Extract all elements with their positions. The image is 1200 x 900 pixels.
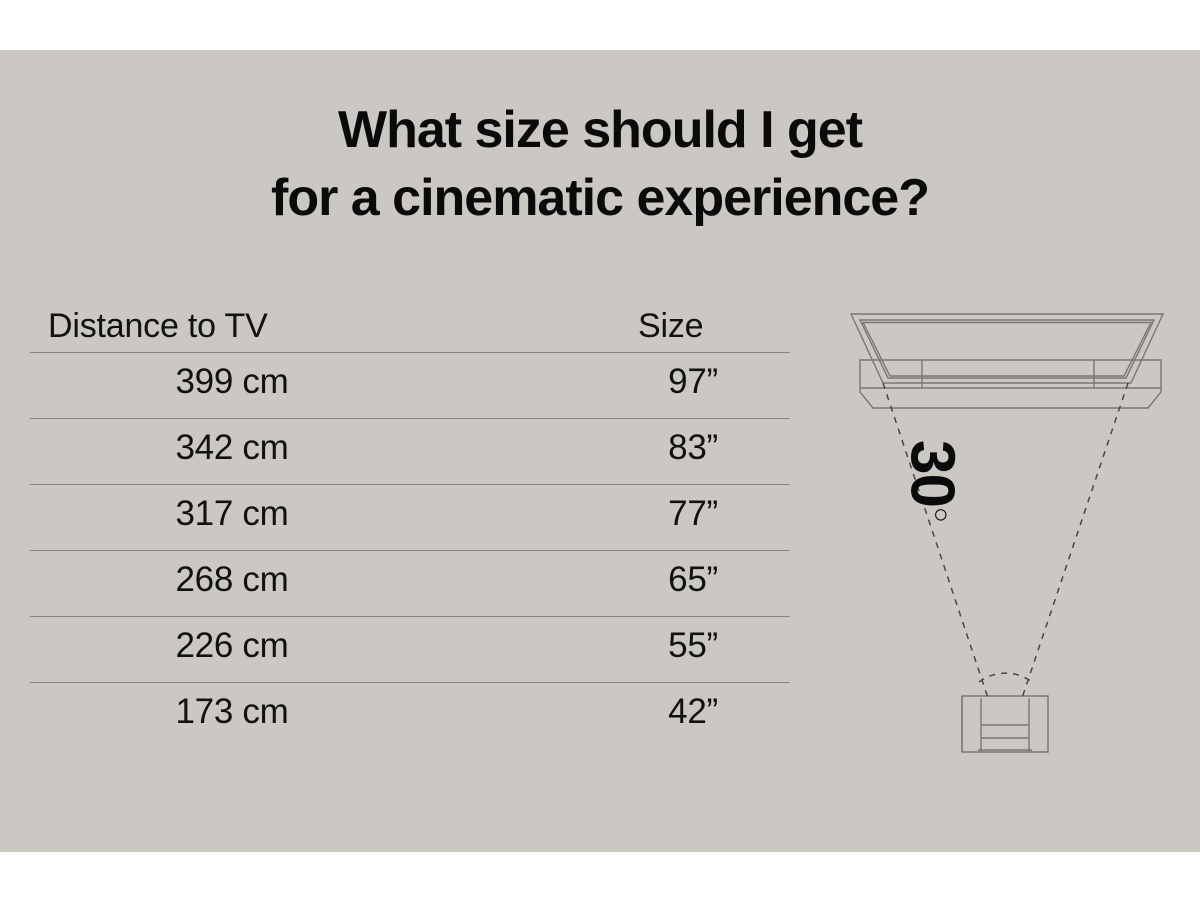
cell-distance: 317 cm (102, 494, 362, 534)
viewing-angle-sightlines-icon (883, 383, 1128, 698)
table-row: 399 cm 97” (30, 353, 790, 418)
viewing-angle-diagram (818, 282, 1190, 782)
cell-size: 42” (608, 692, 778, 732)
viewing-angle-label: 30○ (900, 440, 973, 522)
sofa-top-view-icon (962, 696, 1048, 752)
page-title: What size should I get for a cinematic e… (0, 96, 1200, 232)
cell-distance: 399 cm (102, 362, 362, 402)
table-row: 226 cm 55” (30, 617, 790, 682)
cell-size: 83” (608, 428, 778, 468)
cell-distance: 173 cm (102, 692, 362, 732)
column-header-size: Size (638, 307, 703, 346)
table-row: 342 cm 83” (30, 419, 790, 484)
table-row: 268 cm 65” (30, 551, 790, 616)
cell-size: 55” (608, 626, 778, 666)
cell-distance: 226 cm (102, 626, 362, 666)
cell-size: 97” (608, 362, 778, 402)
page-title-line-2: for a cinematic experience? (0, 164, 1200, 232)
viewing-angle-value: 30 (897, 440, 966, 507)
page-title-line-1: What size should I get (0, 96, 1200, 164)
tv-console-icon (860, 360, 1161, 408)
cell-size: 65” (608, 560, 778, 600)
column-header-distance: Distance to TV (48, 307, 268, 346)
cell-distance: 268 cm (102, 560, 362, 600)
table-row: 317 cm 77” (30, 485, 790, 550)
table-row: 173 cm 42” (30, 683, 790, 748)
table-header-row: Distance to TV Size (30, 282, 790, 352)
degree-icon: ○ (927, 507, 957, 522)
cell-size: 77” (608, 494, 778, 534)
cell-distance: 342 cm (102, 428, 362, 468)
size-guide-table: Distance to TV Size 399 cm 97” 342 cm 83… (30, 282, 790, 748)
slide-canvas: What size should I get for a cinematic e… (0, 0, 1200, 900)
tv-top-view-icon (851, 314, 1163, 383)
